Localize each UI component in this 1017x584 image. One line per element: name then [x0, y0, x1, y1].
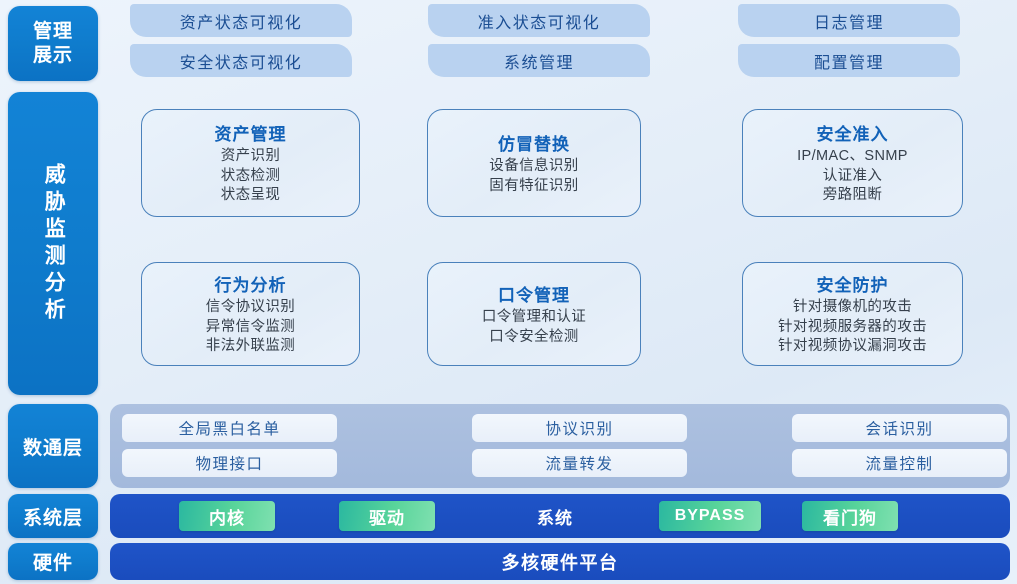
hardware-row: 多核硬件平台: [110, 543, 1010, 580]
card-line: 针对视频协议漏洞攻击: [778, 337, 927, 357]
management-pill[interactable]: 配置管理: [738, 44, 960, 77]
datacom-pill[interactable]: 物理接口: [122, 449, 337, 477]
threat-card-security-admission[interactable]: 安全准入 IP/MAC、SNMP 认证准入 旁路阻断: [742, 109, 963, 217]
management-pill[interactable]: 准入状态可视化: [428, 4, 650, 37]
datacom-column-3: 会话识别 流量控制: [792, 414, 1007, 484]
threat-card-security-protection[interactable]: 安全防护 针对摄像机的攻击 针对视频服务器的攻击 针对视频协议漏洞攻击: [742, 262, 963, 366]
rail-system-text: 系统层: [23, 503, 83, 530]
system-row: 内核 驱动 系统 BYPASS 看门狗: [110, 494, 1010, 538]
threat-card-password-management[interactable]: 口令管理 口令管理和认证 口令安全检测: [427, 262, 641, 366]
rail-management-line2: 展示: [33, 44, 73, 68]
management-row: 资产状态可视化 安全状态可视化 准入状态可视化 系统管理 日志管理 配置管理: [110, 0, 1017, 88]
card-title: 口令管理: [498, 281, 570, 306]
card-line: 资产识别: [221, 147, 281, 167]
card-line: 口令管理和认证: [482, 308, 586, 328]
rail-label-management: 管理 展示: [8, 6, 98, 81]
management-column-1: 资产状态可视化 安全状态可视化: [130, 4, 352, 84]
rail-hardware-text: 硬件: [33, 548, 73, 575]
card-title: 安全准入: [817, 120, 889, 145]
threat-card-behavior-analysis[interactable]: 行为分析 信令协议识别 异常信令监测 非法外联监测: [141, 262, 360, 366]
architecture-diagram: 管理 展示 威胁监测分析 数通层 系统层 硬件 资产状态可视化 安全状态可视化 …: [0, 0, 1017, 584]
system-item-system: 系统: [510, 501, 600, 531]
card-line: 固有特征识别: [489, 177, 578, 197]
datacom-pill[interactable]: 流量控制: [792, 449, 1007, 477]
card-line: 认证准入: [823, 167, 883, 187]
system-item-kernel[interactable]: 内核: [179, 501, 275, 531]
card-line: 口令安全检测: [489, 328, 578, 348]
management-column-2: 准入状态可视化 系统管理: [428, 4, 650, 84]
rail-label-system-layer: 系统层: [8, 494, 98, 538]
card-line: 针对视频服务器的攻击: [778, 318, 927, 338]
management-pill[interactable]: 资产状态可视化: [130, 4, 352, 37]
card-title: 资产管理: [215, 120, 287, 145]
datacom-column-2: 协议识别 流量转发: [472, 414, 687, 484]
card-line: 状态检测: [221, 167, 281, 187]
datacom-row: 全局黑白名单 物理接口 协议识别 流量转发 会话识别 流量控制: [110, 404, 1010, 488]
management-pill[interactable]: 日志管理: [738, 4, 960, 37]
system-item-driver[interactable]: 驱动: [339, 501, 435, 531]
rail-datacom-text: 数通层: [23, 433, 83, 460]
management-pill[interactable]: 系统管理: [428, 44, 650, 77]
card-line: 设备信息识别: [489, 157, 578, 177]
card-line: 针对摄像机的攻击: [793, 298, 912, 318]
card-line: 信令协议识别: [206, 298, 295, 318]
threat-card-spoof-replacement[interactable]: 仿冒替换 设备信息识别 固有特征识别: [427, 109, 641, 217]
card-title: 仿冒替换: [498, 130, 570, 155]
card-line: 异常信令监测: [206, 318, 295, 338]
card-line: 状态呈现: [221, 186, 281, 206]
datacom-pill[interactable]: 会话识别: [792, 414, 1007, 442]
card-line: 非法外联监测: [206, 337, 295, 357]
datacom-column-1: 全局黑白名单 物理接口: [122, 414, 337, 484]
rail-label-hardware-layer: 硬件: [8, 543, 98, 580]
datacom-pill[interactable]: 协议识别: [472, 414, 687, 442]
datacom-pill[interactable]: 流量转发: [472, 449, 687, 477]
management-pill[interactable]: 安全状态可视化: [130, 44, 352, 77]
system-item-bypass[interactable]: BYPASS: [659, 501, 761, 531]
system-item-watchdog[interactable]: 看门狗: [802, 501, 898, 531]
card-title: 行为分析: [215, 271, 287, 296]
card-title: 安全防护: [817, 271, 889, 296]
rail-management-line1: 管理: [33, 20, 73, 44]
card-line: 旁路阻断: [823, 186, 883, 206]
hardware-row-label: 多核硬件平台: [502, 549, 619, 575]
rail-label-threat-monitoring: 威胁监测分析: [8, 92, 98, 395]
datacom-pill[interactable]: 全局黑白名单: [122, 414, 337, 442]
rail-threat-text: 威胁监测分析: [38, 163, 68, 325]
management-column-3: 日志管理 配置管理: [738, 4, 960, 84]
card-line: IP/MAC、SNMP: [797, 147, 908, 167]
threat-card-grid: 资产管理 资产识别 状态检测 状态呈现 仿冒替换 设备信息识别 固有特征识别 安…: [110, 92, 1017, 395]
rail-label-datacom-layer: 数通层: [8, 404, 98, 488]
threat-card-asset-management[interactable]: 资产管理 资产识别 状态检测 状态呈现: [141, 109, 360, 217]
